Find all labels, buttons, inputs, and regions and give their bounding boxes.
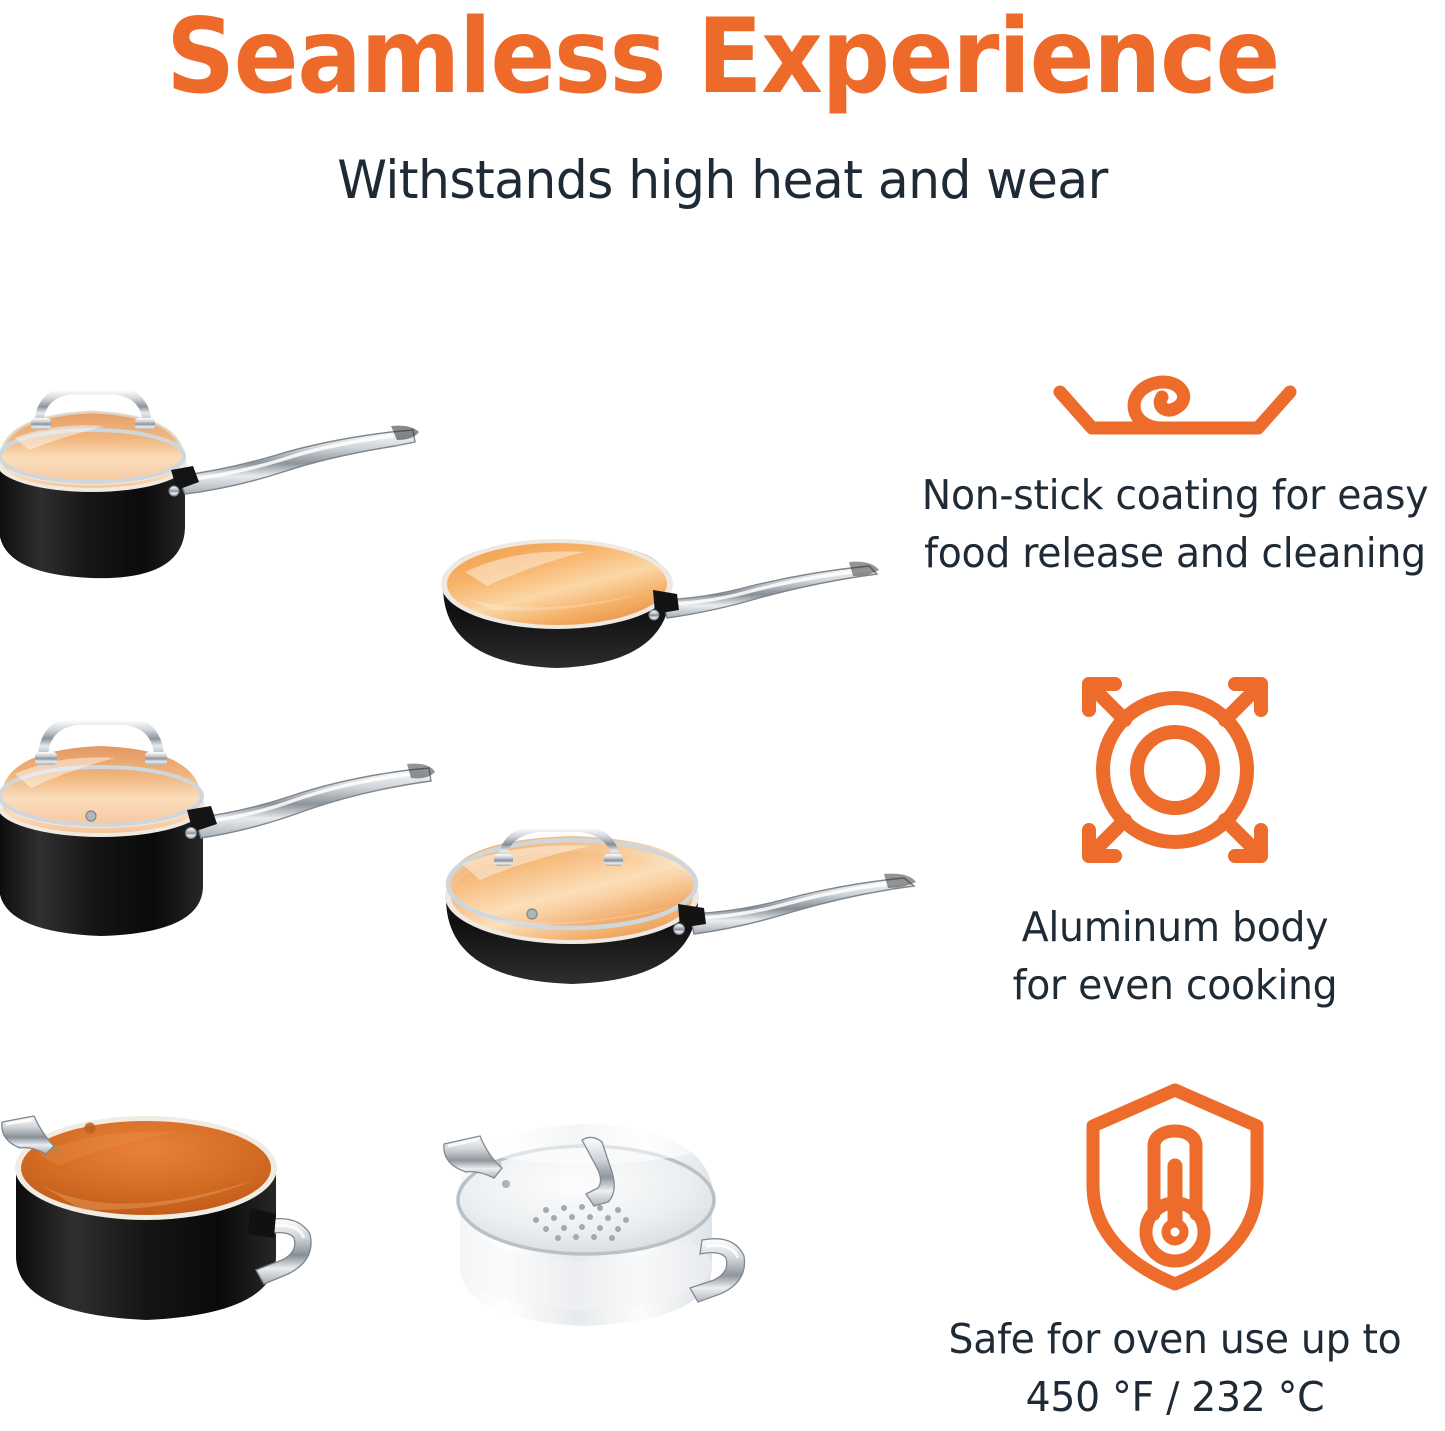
cookware-frying-pan: [425, 524, 885, 684]
cookware-small-saucepan-with-glass-lid: [0, 378, 435, 603]
feature-ovensafe-line2: 450 °F / 232 °C: [916, 1368, 1434, 1426]
feature-nonstick-line1: Non-stick coating for easy: [916, 466, 1434, 524]
even-heat-distribution-icon: [1069, 664, 1281, 876]
page-subheadline: Withstands high heat and wear: [36, 152, 1409, 210]
cookware-skillet-with-glass-lid: [432, 822, 922, 1002]
nonstick-release-icon: [1044, 366, 1306, 452]
feature-ovensafe-line1: Safe for oven use up to: [916, 1310, 1434, 1368]
feature-aluminum-line2: for even cooking: [916, 956, 1434, 1014]
feature-nonstick-line2: food release and cleaning: [916, 524, 1434, 582]
feature-aluminum-line1: Aluminum body: [916, 898, 1434, 956]
page-headline: Seamless Experience: [51, 4, 1395, 111]
cookware-large-saucepan-with-glass-lid: [0, 700, 435, 950]
feature-aluminum-text: Aluminum body for even cooking: [916, 898, 1434, 1014]
product-feature-banner: Seamless Experience Withstands high heat…: [0, 0, 1445, 1431]
shield-thermometer-icon: [1077, 1082, 1273, 1294]
cookware-steamer-insert: [436, 1106, 756, 1346]
feature-nonstick: Non-stick coating for easy food release …: [905, 366, 1445, 582]
feature-ovensafe: Safe for oven use up to 450 °F / 232 °C: [905, 1082, 1445, 1426]
feature-ovensafe-text: Safe for oven use up to 450 °F / 232 °C: [916, 1310, 1434, 1426]
feature-nonstick-text: Non-stick coating for easy food release …: [916, 466, 1434, 582]
feature-aluminum: Aluminum body for even cooking: [905, 664, 1445, 1014]
cookware-stock-pot: [0, 1088, 348, 1338]
